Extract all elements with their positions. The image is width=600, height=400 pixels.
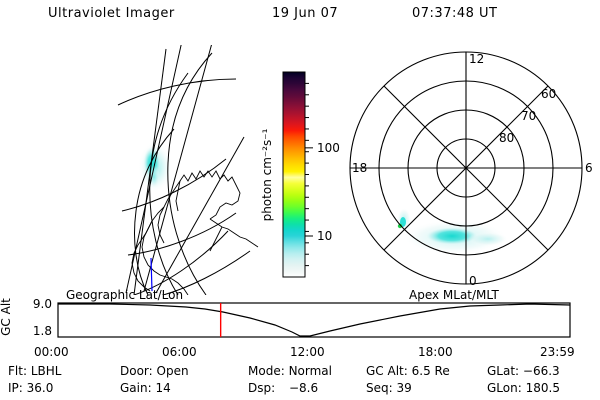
time-axis: 00:00 06:00 12:00 18:00 23:59 [0, 345, 600, 363]
dial-mlat-label-60: 60 [541, 87, 556, 101]
instrument-title: Ultraviolet Imager [48, 6, 175, 21]
status-key-gain: Gain: [120, 381, 152, 395]
status-value-glon: 180.5 [526, 381, 560, 395]
dial-mlat-label-80: 80 [499, 131, 514, 145]
status-value-mode: Normal [289, 364, 332, 378]
time-tick-3: 18:00 [418, 345, 453, 359]
status-key-mode: Mode: [248, 364, 285, 378]
dial-mlat-label-70: 70 [521, 109, 536, 123]
altitude-track-svg: GC Alt 9.0 1.8 Geographic Lat/Lon Apex M… [0, 288, 600, 346]
polar-dial-svg: 12 6 0 18 60 70 80 [336, 45, 594, 295]
dial-aurora-emission [397, 208, 508, 254]
status-key-door: Door: [120, 364, 153, 378]
status-bar: Flt: LBHL Door: Open Mode: Normal GC Alt… [0, 364, 600, 398]
status-value-flt: LBHL [31, 364, 62, 378]
status-key-gcalt: GC Alt: [366, 364, 408, 378]
dial-mlt-label-6: 6 [585, 161, 593, 175]
status-field-gain: Gain: 14 [120, 381, 171, 395]
status-key-flt: Flt: [8, 364, 27, 378]
dial-mlt-label-12: 12 [469, 52, 484, 66]
time-tick-4: 23:59 [540, 345, 575, 359]
status-value-dsp: −8.6 [289, 381, 318, 395]
colorbar-axis-label: photon cm⁻²s⁻¹ [260, 128, 274, 221]
status-field-seq: Seq: 39 [366, 381, 412, 395]
time-tick-2: 12:00 [290, 345, 325, 359]
geographic-map-svg [60, 45, 260, 295]
time-tick-0: 00:00 [34, 345, 69, 359]
altitude-ytick-min: 1.8 [33, 324, 52, 338]
colorbar-swatch [283, 72, 305, 277]
status-field-mode: Mode: Normal [248, 364, 332, 378]
status-value-seq: 39 [397, 381, 412, 395]
colorbar-major-ticks: 10010 [305, 141, 340, 243]
altitude-left-title: Geographic Lat/Lon [66, 288, 183, 302]
colorbar-minor-ticks [305, 83, 309, 265]
status-value-door: Open [157, 364, 189, 378]
altitude-plot-frame [58, 303, 570, 337]
altitude-curve [58, 304, 570, 336]
status-row-1: Flt: LBHL Door: Open Mode: Normal GC Alt… [0, 364, 600, 381]
time-tick-1: 06:00 [162, 345, 197, 359]
status-key-dsp: Dsp: [248, 381, 275, 395]
status-value-gain: 14 [155, 381, 170, 395]
polar-dial-panel[interactable]: 12 6 0 18 60 70 80 [336, 45, 594, 295]
status-field-dsp: Dsp: −8.6 [248, 381, 318, 395]
dial-mlt-label-18: 18 [352, 161, 367, 175]
status-field-glat: GLat: −66.3 [487, 364, 560, 378]
observation-date: 19 Jun 07 [272, 6, 338, 21]
altitude-ytick-max: 9.0 [33, 297, 52, 311]
status-row-2: IP: 36.0 Gain: 14 Dsp: −8.6 Seq: 39 GLon… [0, 381, 600, 398]
status-value-ip: 36.0 [27, 381, 54, 395]
colorbar-svg: 10010 photon cm⁻²s⁻¹ [258, 45, 344, 295]
altitude-track-panel[interactable]: GC Alt 9.0 1.8 Geographic Lat/Lon Apex M… [0, 288, 600, 346]
status-field-ip: IP: 36.0 [8, 381, 53, 395]
aurora-emission-region [138, 141, 172, 193]
status-field-door: Door: Open [120, 364, 189, 378]
status-field-gcalt: GC Alt: 6.5 Re [366, 364, 450, 378]
geographic-map-panel[interactable] [60, 45, 260, 295]
status-key-ip: IP: [8, 381, 23, 395]
observation-time: 07:37:48 UT [412, 6, 497, 21]
colorbar-panel: 10010 photon cm⁻²s⁻¹ [258, 45, 344, 295]
colorbar-tick-label-10: 10 [317, 229, 332, 243]
status-field-flt: Flt: LBHL [8, 364, 61, 378]
status-key-seq: Seq: [366, 381, 393, 395]
status-key-glat: GLat: [487, 364, 519, 378]
dial-mlt-label-0: 0 [469, 274, 477, 288]
altitude-axis-name: GC Alt [0, 298, 13, 336]
ultraviolet-imager-window: Ultraviolet Imager 19 Jun 07 07:37:48 UT [0, 0, 600, 400]
status-field-glon: GLon: 180.5 [487, 381, 560, 395]
status-value-gcalt: 6.5 Re [412, 364, 450, 378]
altitude-right-title: Apex MLat/MLT [409, 288, 499, 302]
status-value-glat: −66.3 [523, 364, 560, 378]
status-key-glon: GLon: [487, 381, 522, 395]
